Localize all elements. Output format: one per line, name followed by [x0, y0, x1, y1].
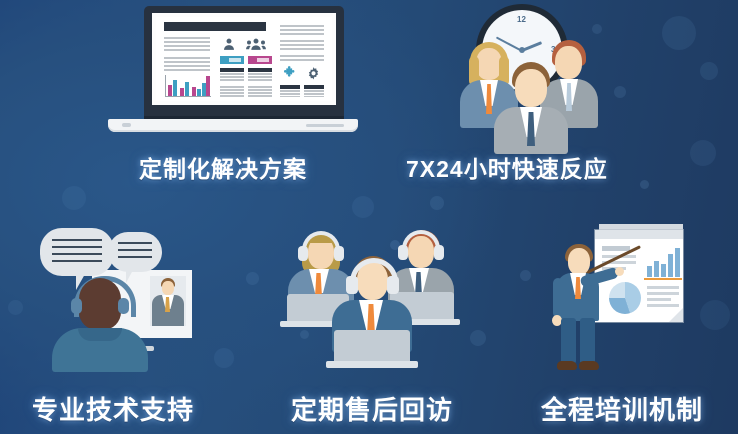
chart-bar	[185, 82, 189, 96]
bokeh-dot	[246, 272, 259, 285]
dashboard-text-block	[280, 40, 324, 51]
bubble-text-line	[118, 256, 152, 258]
bokeh-dot	[640, 180, 649, 189]
head-back	[79, 278, 121, 330]
chart-bar	[173, 80, 177, 96]
caption-custom-solution: 定制化解决方案	[139, 150, 307, 184]
clock-numeral-12: 12	[517, 15, 526, 24]
card-body	[248, 86, 272, 97]
board-chart-bar	[654, 261, 659, 277]
board-text-line	[647, 298, 671, 301]
speech-bubble-small	[108, 232, 162, 272]
board-text-line	[647, 292, 679, 295]
card-header	[220, 68, 244, 72]
collar	[78, 328, 122, 341]
dashboard-text-block	[164, 37, 210, 52]
illustration-follow-up	[282, 226, 462, 374]
dashboard	[156, 17, 332, 101]
board-pie-chart	[609, 282, 641, 314]
bokeh-dot	[8, 300, 23, 315]
chart-bar	[180, 88, 184, 96]
badge-tile-pink-label	[257, 58, 269, 62]
monitor-contact-photo	[150, 276, 186, 326]
leg-right	[580, 318, 595, 364]
illustration-training	[545, 222, 695, 377]
board-chart-baseline	[644, 278, 682, 280]
dashboard-text-block	[164, 57, 210, 72]
board-text-line	[647, 304, 679, 307]
bubble-text-line	[52, 239, 102, 241]
card-body	[220, 86, 244, 97]
arm-down	[553, 278, 563, 318]
puzzle-icon	[282, 66, 297, 81]
shoe-right	[579, 361, 599, 370]
group-icon	[246, 37, 266, 51]
laptop-screen	[152, 13, 336, 105]
laptop-lid	[144, 6, 344, 119]
earcup-right	[387, 276, 399, 294]
card-body	[304, 90, 324, 97]
bubble-text-line	[52, 253, 102, 255]
bokeh-dot	[62, 186, 86, 210]
chart-bar	[206, 76, 210, 96]
earcup-left	[346, 276, 358, 294]
bokeh-dot	[352, 196, 374, 218]
board-corner-fold	[669, 308, 683, 322]
head	[515, 69, 547, 107]
bokeh-dot	[700, 300, 730, 330]
person-back-view	[52, 274, 148, 372]
dashboard-header-bar	[164, 22, 266, 31]
user-icon	[222, 37, 236, 51]
earcup-left	[71, 298, 82, 314]
illustration-tech-support	[30, 222, 205, 372]
chart-bar	[197, 89, 201, 96]
card-body	[248, 73, 272, 82]
bokeh-dot	[430, 196, 444, 210]
caption-training: 全程培训机制	[541, 390, 703, 427]
dashboard-text-block	[280, 25, 324, 36]
bokeh-dot	[690, 140, 716, 166]
earcup-left	[298, 246, 308, 261]
bubble-text-line	[52, 246, 102, 248]
bokeh-dot	[520, 270, 531, 281]
board-text-line	[647, 286, 679, 289]
board-chart-bar	[675, 248, 680, 277]
board-header	[595, 230, 683, 239]
hand	[615, 267, 624, 276]
bokeh-dot	[470, 330, 486, 346]
chart-bar	[192, 87, 196, 96]
earcup-right	[434, 245, 444, 260]
earcup-right	[118, 298, 129, 314]
bubble-text-line	[118, 242, 152, 244]
agent-center	[326, 256, 418, 368]
chart-y-axis	[165, 75, 166, 97]
card-header	[280, 85, 300, 89]
head	[568, 248, 590, 275]
dashboard-text-block	[280, 55, 324, 62]
card-body	[280, 90, 300, 97]
laptop-screen	[334, 330, 410, 362]
caption-follow-up: 定期售后回访	[291, 390, 453, 427]
board-chart-bar	[661, 264, 666, 277]
trainer-figure	[551, 244, 613, 376]
laptop-base	[326, 361, 418, 368]
chart-x-axis	[165, 96, 211, 97]
speech-bubble-large	[40, 228, 114, 276]
card-body	[220, 73, 244, 82]
leg-left	[561, 318, 576, 364]
caption-tech-support: 专业技术支持	[32, 390, 194, 427]
poster-canvas: 定制化解决方案 12 9 3	[0, 0, 738, 434]
bubble-text-line	[118, 249, 152, 251]
person-center	[494, 62, 568, 154]
board-chart-bar	[647, 266, 652, 277]
laptop-base	[108, 119, 358, 132]
chart-bar	[168, 85, 172, 96]
caption-rapid-response: 7X24小时快速反应	[406, 150, 608, 184]
bokeh-dot	[662, 16, 696, 50]
illustration-rapid-response: 12 9 3	[440, 4, 620, 144]
bubble-text-line	[52, 260, 102, 262]
board-chart-bar	[668, 254, 673, 277]
bokeh-dot	[214, 348, 234, 368]
badge-tile-blue-label	[229, 58, 241, 62]
bokeh-dot	[700, 62, 718, 80]
illustration-custom-solution	[108, 6, 358, 138]
gear-icon	[306, 66, 321, 81]
shoe-left	[557, 361, 577, 370]
card-header	[304, 85, 324, 89]
card-header	[248, 68, 272, 72]
